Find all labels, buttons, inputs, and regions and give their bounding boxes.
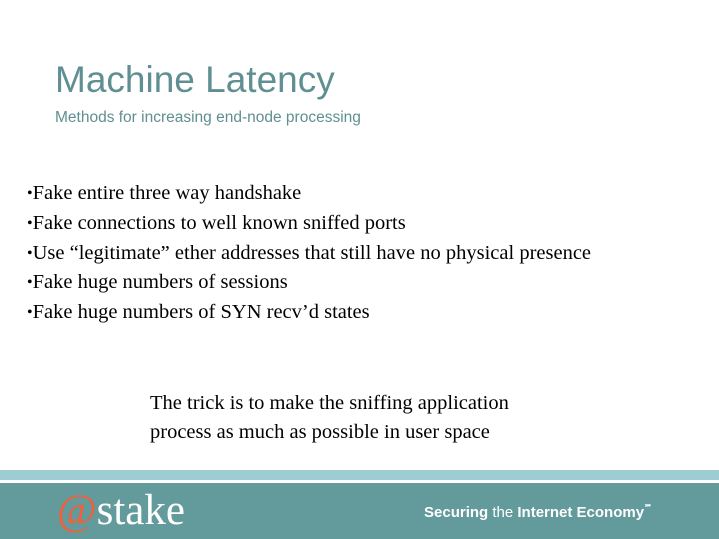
title-block: Machine Latency Methods for increasing e… [55,58,695,129]
page-title: Machine Latency [55,58,695,102]
list-item-label: Use “legitimate” ether addresses that st… [33,242,591,264]
tagline-part-2: the [488,504,517,521]
slide: Machine Latency Methods for increasing e… [0,0,719,539]
tagline-part-3: Internet Economy [517,504,644,521]
list-item: •Fake entire three way handshake [27,179,717,209]
list-item: •Use “legitimate” ether addresses that s… [27,239,717,269]
footer-accent-stripe [0,470,719,480]
trademark-icon: ℠ [644,503,652,512]
statement-block: The trick is to make the sniffing applic… [150,389,630,446]
statement-line: process as much as possible in user spac… [150,418,630,447]
tagline-part-1: Securing [424,504,488,521]
bullet-list: •Fake entire three way handshake •Fake c… [27,179,717,328]
list-item-label: Fake huge numbers of SYN recv’d states [33,301,370,323]
footer-tagline: Securing the Internet Economy℠ [424,498,652,523]
list-item-label: Fake entire three way handshake [33,182,302,204]
list-item-label: Fake huge numbers of sessions [33,271,288,293]
list-item-label: Fake connections to well known sniffed p… [33,212,406,234]
atstake-logo: @stake [57,486,185,536]
list-item: •Fake connections to well known sniffed … [27,209,717,239]
statement-line: The trick is to make the sniffing applic… [150,389,630,418]
list-item: •Fake huge numbers of sessions [27,268,717,298]
logo-wordmark: stake [97,487,185,534]
list-item: •Fake huge numbers of SYN recv’d states [27,298,717,328]
page-subtitle: Methods for increasing end-node processi… [55,107,695,129]
at-symbol-icon: @ [57,487,97,534]
